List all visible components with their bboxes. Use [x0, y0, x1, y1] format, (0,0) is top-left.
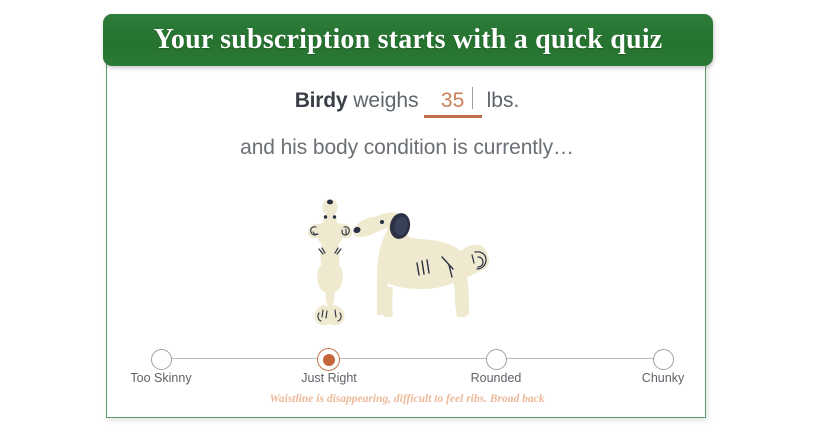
dog-side-view	[353, 211, 489, 317]
slider-point-just-right[interactable]	[317, 348, 340, 371]
slider-label-just-right[interactable]: Just Right	[301, 371, 357, 385]
pet-name-label: Birdy	[295, 89, 348, 112]
slider-labels: Too Skinny Just Right Rounded Chunky	[107, 371, 707, 391]
weight-unit-label: lbs.	[487, 89, 520, 112]
banner-title: Your subscription starts with a quick qu…	[154, 24, 663, 56]
quiz-screen: Birdy weighslbs. and his body condition …	[0, 0, 814, 427]
slider-track	[161, 358, 663, 359]
dog-illustration	[297, 191, 517, 341]
weight-input[interactable]	[424, 89, 482, 118]
weight-question-line: Birdy weighslbs.	[107, 89, 707, 118]
slider-point-chunky[interactable]	[653, 349, 674, 370]
quiz-card: Birdy weighslbs. and his body condition …	[106, 40, 706, 418]
slider-point-rounded[interactable]	[486, 349, 507, 370]
quiz-header-banner: Your subscription starts with a quick qu…	[103, 14, 713, 66]
text-caret	[472, 87, 473, 109]
weight-input-wrapper	[423, 89, 483, 118]
dog-topdown-view	[308, 199, 352, 325]
slider-label-rounded[interactable]: Rounded	[471, 371, 522, 385]
body-condition-slider[interactable]	[154, 346, 670, 372]
slider-label-chunky[interactable]: Chunky	[642, 371, 684, 385]
slider-label-too-skinny[interactable]: Too Skinny	[130, 371, 191, 385]
weighs-label: weighs	[353, 89, 418, 112]
condition-question-line: and his body condition is currently…	[107, 136, 707, 160]
condition-caption: Waistline is disappearing, difficult to …	[107, 393, 707, 405]
slider-point-too-skinny[interactable]	[151, 349, 172, 370]
